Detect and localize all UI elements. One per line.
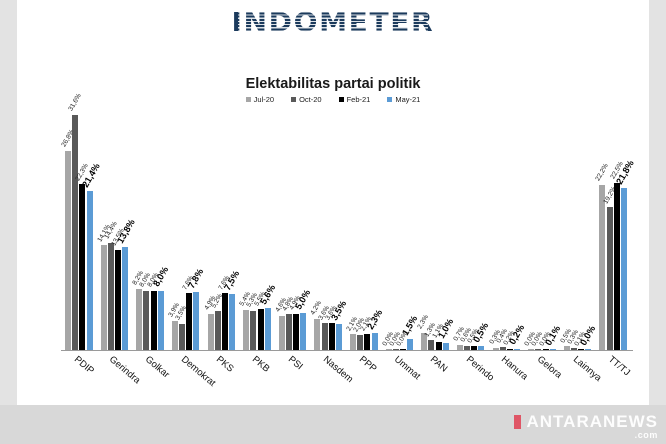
bar-rect — [607, 207, 613, 350]
bar-gelora-feb-21[interactable]: 0,0% — [543, 112, 549, 350]
x-tick-cell: Hanura — [489, 352, 525, 404]
bar-psi-feb-21[interactable]: 4,9% — [293, 112, 299, 350]
bar-pkb-may-21[interactable]: 5,6% — [265, 112, 271, 350]
brand-logo-text: INDOMETER — [232, 8, 435, 38]
bar-group-tt-tj: 22,2%19,2%22,5%21,8% — [595, 112, 631, 350]
chart-plot-area: 26,8%31,6%22,3%21,4%14,1%14,4%13,5%13,8%… — [61, 112, 631, 350]
bar-rect — [329, 323, 335, 350]
bar-perindo-oct-20[interactable]: 0,6% — [464, 112, 470, 350]
bar-group-gerindra: 14,1%14,4%13,5%13,8% — [97, 112, 133, 350]
bar-lainnya-may-21[interactable]: 0,0% — [585, 112, 591, 350]
bar-rect — [322, 323, 328, 350]
x-tick-cell: Gelora — [524, 352, 560, 404]
x-axis-line — [61, 350, 633, 351]
bar-rect — [599, 185, 605, 350]
x-tick-cell: Demokrat — [168, 352, 204, 404]
bar-rect — [186, 293, 192, 350]
bar-pks-jul-20[interactable]: 4,9% — [208, 112, 214, 350]
bar-group-golkar: 8,2%8,0%8,0%8,0% — [132, 112, 168, 350]
x-tick-label-pan: PAN — [428, 354, 450, 375]
x-tick-cell: TT/TJ — [595, 352, 631, 404]
bar-pks-may-21[interactable]: 7,5% — [229, 112, 235, 350]
bar-group-demokrat: 3,9%3,5%7,6%7,8% — [168, 112, 204, 350]
bar-rect — [65, 151, 71, 350]
bar-pks-feb-21[interactable]: 7,6% — [222, 112, 228, 350]
bar-lainnya-feb-21[interactable]: 0,1% — [578, 112, 584, 350]
bar-rect — [193, 292, 199, 350]
bar-pdip-feb-21[interactable]: 22,3% — [79, 112, 85, 350]
bar-rect — [115, 250, 121, 350]
bar-demokrat-feb-21[interactable]: 7,6% — [186, 112, 192, 350]
bar-rect — [265, 308, 271, 350]
legend-item-jul-20[interactable]: Jul-20 — [246, 96, 274, 104]
legend-swatch-icon — [387, 97, 392, 102]
bar-rect — [122, 247, 128, 350]
bar-gelora-jul-20[interactable]: 0,0% — [528, 112, 534, 350]
bar-tt-tj-jul-20[interactable]: 22,2% — [599, 112, 605, 350]
bar-golkar-feb-21[interactable]: 8,0% — [151, 112, 157, 350]
bar-ppp-feb-21[interactable]: 2,1% — [364, 112, 370, 350]
x-tick-label-ppp: PPP — [357, 354, 379, 375]
bar-rect — [101, 245, 107, 350]
bar-gerindra-oct-20[interactable]: 14,4% — [108, 112, 114, 350]
bar-pdip-oct-20[interactable]: 31,6% — [72, 112, 78, 350]
bar-rect — [229, 294, 235, 350]
bar-hanura-may-21[interactable]: 0,2% — [514, 112, 520, 350]
bar-rect — [407, 339, 413, 350]
legend-swatch-icon — [291, 97, 296, 102]
legend-item-label: Jul-20 — [254, 96, 274, 104]
bar-perindo-jul-20[interactable]: 0,7% — [457, 112, 463, 350]
bar-rect — [428, 340, 434, 350]
right-margin-strip — [649, 0, 666, 405]
bar-group-pks: 4,9%5,2%7,6%7,5% — [204, 112, 240, 350]
bar-rect — [314, 319, 320, 350]
bar-ummat-oct-20[interactable]: 0,0% — [393, 112, 399, 350]
bar-rect — [621, 188, 627, 350]
bar-demokrat-may-21[interactable]: 7,8% — [193, 112, 199, 350]
x-tick-cell: Golkar — [132, 352, 168, 404]
bar-pdip-may-21[interactable]: 21,4% — [87, 112, 93, 350]
chart-title: Elektabilitas partai politik — [17, 76, 649, 92]
bar-psi-oct-20[interactable]: 4,8% — [286, 112, 292, 350]
bar-golkar-jul-20[interactable]: 8,2% — [136, 112, 142, 350]
x-tick-cell: PKB — [239, 352, 275, 404]
bar-rect — [151, 291, 157, 351]
bar-groups: 26,8%31,6%22,3%21,4%14,1%14,4%13,5%13,8%… — [61, 112, 631, 350]
left-margin-strip — [0, 0, 17, 405]
bar-ummat-may-21[interactable]: 1,5% — [407, 112, 413, 350]
bar-rect — [243, 310, 249, 350]
bar-pan-oct-20[interactable]: 1,3% — [428, 112, 434, 350]
legend-item-may-21[interactable]: May-21 — [387, 96, 420, 104]
bar-group-perindo: 0,7%0,6%0,5%0,5% — [453, 112, 489, 350]
x-tick-cell: Lainnya — [560, 352, 596, 404]
x-tick-label-pkb: PKB — [250, 354, 272, 375]
x-tick-cell: PSI — [275, 352, 311, 404]
x-tick-cell: PKS — [204, 352, 240, 404]
bar-group-pdip: 26,8%31,6%22,3%21,4% — [61, 112, 97, 350]
bar-rect — [136, 289, 142, 350]
chart-legend: Jul-20Oct-20Feb-21May-21 — [17, 96, 649, 104]
bar-group-pkb: 5,4%5,3%5,5%5,6% — [239, 112, 275, 350]
bar-psi-jul-20[interactable]: 4,6% — [279, 112, 285, 350]
bar-rect — [158, 291, 164, 351]
bar-rect — [614, 183, 620, 350]
bar-pan-feb-21[interactable]: 1,1% — [436, 112, 442, 350]
x-tick-label-psi: PSI — [285, 354, 304, 372]
bar-rect — [436, 342, 442, 350]
bar-pkb-jul-20[interactable]: 5,4% — [243, 112, 249, 350]
x-tick-cell: PDIP — [61, 352, 97, 404]
bar-rect — [108, 243, 114, 350]
bar-pkb-feb-21[interactable]: 5,5% — [258, 112, 264, 350]
bar-tt-tj-feb-21[interactable]: 22,5% — [614, 112, 620, 350]
bar-hanura-oct-20[interactable]: 0,4% — [500, 112, 506, 350]
legend-item-label: May-21 — [395, 96, 420, 104]
bar-pan-jul-20[interactable]: 2,3% — [421, 112, 427, 350]
legend-item-label: Oct-20 — [299, 96, 322, 104]
bar-ummat-jul-20[interactable]: 0,0% — [386, 112, 392, 350]
bar-group-nasdem: 4,2%3,6%3,6%3,5% — [310, 112, 346, 350]
bar-pkb-oct-20[interactable]: 5,3% — [250, 112, 256, 350]
x-tick-cell: Gerindra — [97, 352, 133, 404]
bar-group-pan: 2,3%1,3%1,1%1,0% — [417, 112, 453, 350]
bar-rect — [250, 311, 256, 350]
x-tick-cell: PAN — [417, 352, 453, 404]
bar-rect — [443, 343, 449, 350]
x-tick-cell: Nasdem — [310, 352, 346, 404]
bar-rect — [279, 316, 285, 350]
bar-gelora-oct-20[interactable]: 0,0% — [535, 112, 541, 350]
bar-gerindra-may-21[interactable]: 13,8% — [122, 112, 128, 350]
bar-ummat-feb-21[interactable]: 0,0% — [400, 112, 406, 350]
bar-ppp-jul-20[interactable]: 2,1% — [350, 112, 356, 350]
bar-pdip-jul-20[interactable]: 26,8% — [65, 112, 71, 350]
x-tick-label-tt-tj: TT/TJ — [606, 354, 632, 378]
bar-pan-may-21[interactable]: 1,0% — [443, 112, 449, 350]
bar-golkar-may-21[interactable]: 8,0% — [158, 112, 164, 350]
legend-item-label: Feb-21 — [347, 96, 371, 104]
bar-rect — [336, 324, 342, 350]
bar-rect — [72, 115, 78, 350]
bar-rect — [350, 334, 356, 350]
bar-hanura-feb-21[interactable]: 0,2% — [507, 112, 513, 350]
bar-demokrat-oct-20[interactable]: 3,5% — [179, 112, 185, 350]
bar-rect — [215, 311, 221, 350]
bar-rect — [172, 321, 178, 350]
bottom-margin-strip — [0, 405, 666, 444]
bar-group-psi: 4,6%4,8%4,9%5,0% — [275, 112, 311, 350]
infographic-page: INDOMETER Elektabilitas partai politik J… — [17, 0, 649, 405]
screenshot-canvas: INDOMETER Elektabilitas partai politik J… — [0, 0, 666, 444]
bar-group-gelora: 0,0%0,0%0,0%0,1% — [524, 112, 560, 350]
bar-rect — [222, 293, 228, 350]
bar-lainnya-oct-20[interactable]: 0,3% — [571, 112, 577, 350]
bar-rect — [286, 314, 292, 350]
bar-tt-tj-oct-20[interactable]: 19,2% — [607, 112, 613, 350]
bar-ppp-oct-20[interactable]: 2,0% — [357, 112, 363, 350]
bar-rect — [258, 309, 264, 350]
bar-perindo-may-21[interactable]: 0,5% — [478, 112, 484, 350]
bar-nasdem-may-21[interactable]: 3,5% — [336, 112, 342, 350]
bar-psi-may-21[interactable]: 5,0% — [300, 112, 306, 350]
legend-swatch-icon — [246, 97, 251, 102]
x-tick-cell: Ummat — [382, 352, 418, 404]
bar-lainnya-jul-20[interactable]: 0,5% — [564, 112, 570, 350]
bar-golkar-oct-20[interactable]: 8,0% — [143, 112, 149, 350]
bar-group-hanura: 0,3%0,4%0,2%0,2% — [489, 112, 525, 350]
bar-rect — [300, 313, 306, 350]
bar-tt-tj-may-21[interactable]: 21,8% — [621, 112, 627, 350]
bar-rect — [208, 314, 214, 350]
bar-rect — [87, 191, 93, 350]
bar-group-lainnya: 0,5%0,3%0,1%0,0% — [560, 112, 596, 350]
legend-item-feb-21[interactable]: Feb-21 — [339, 96, 371, 104]
bar-rect — [143, 291, 149, 351]
x-tick-cell: PPP — [346, 352, 382, 404]
bar-rect — [357, 335, 363, 350]
brand-header: INDOMETER — [17, 8, 649, 38]
bar-group-ummat: 0,0%0,0%0,0%1,5% — [382, 112, 418, 350]
bar-pks-oct-20[interactable]: 5,2% — [215, 112, 221, 350]
x-tick-label-pks: PKS — [214, 354, 236, 375]
x-tick-label-pdip: PDIP — [72, 354, 96, 377]
bar-group-ppp: 2,1%2,0%2,1%2,3% — [346, 112, 382, 350]
bar-perindo-feb-21[interactable]: 0,5% — [471, 112, 477, 350]
bar-rect — [179, 324, 185, 350]
bar-rect — [364, 334, 370, 350]
legend-swatch-icon — [339, 97, 344, 102]
bar-hanura-jul-20[interactable]: 0,3% — [493, 112, 499, 350]
legend-item-oct-20[interactable]: Oct-20 — [291, 96, 322, 104]
bar-rect — [79, 184, 85, 350]
x-axis-labels: PDIPGerindraGolkarDemokratPKSPKBPSINasde… — [61, 352, 631, 404]
bar-ppp-may-21[interactable]: 2,3% — [372, 112, 378, 350]
bar-gelora-may-21[interactable]: 0,1% — [550, 112, 556, 350]
bar-rect — [293, 314, 299, 350]
x-tick-cell: Perindo — [453, 352, 489, 404]
bar-rect — [372, 333, 378, 350]
